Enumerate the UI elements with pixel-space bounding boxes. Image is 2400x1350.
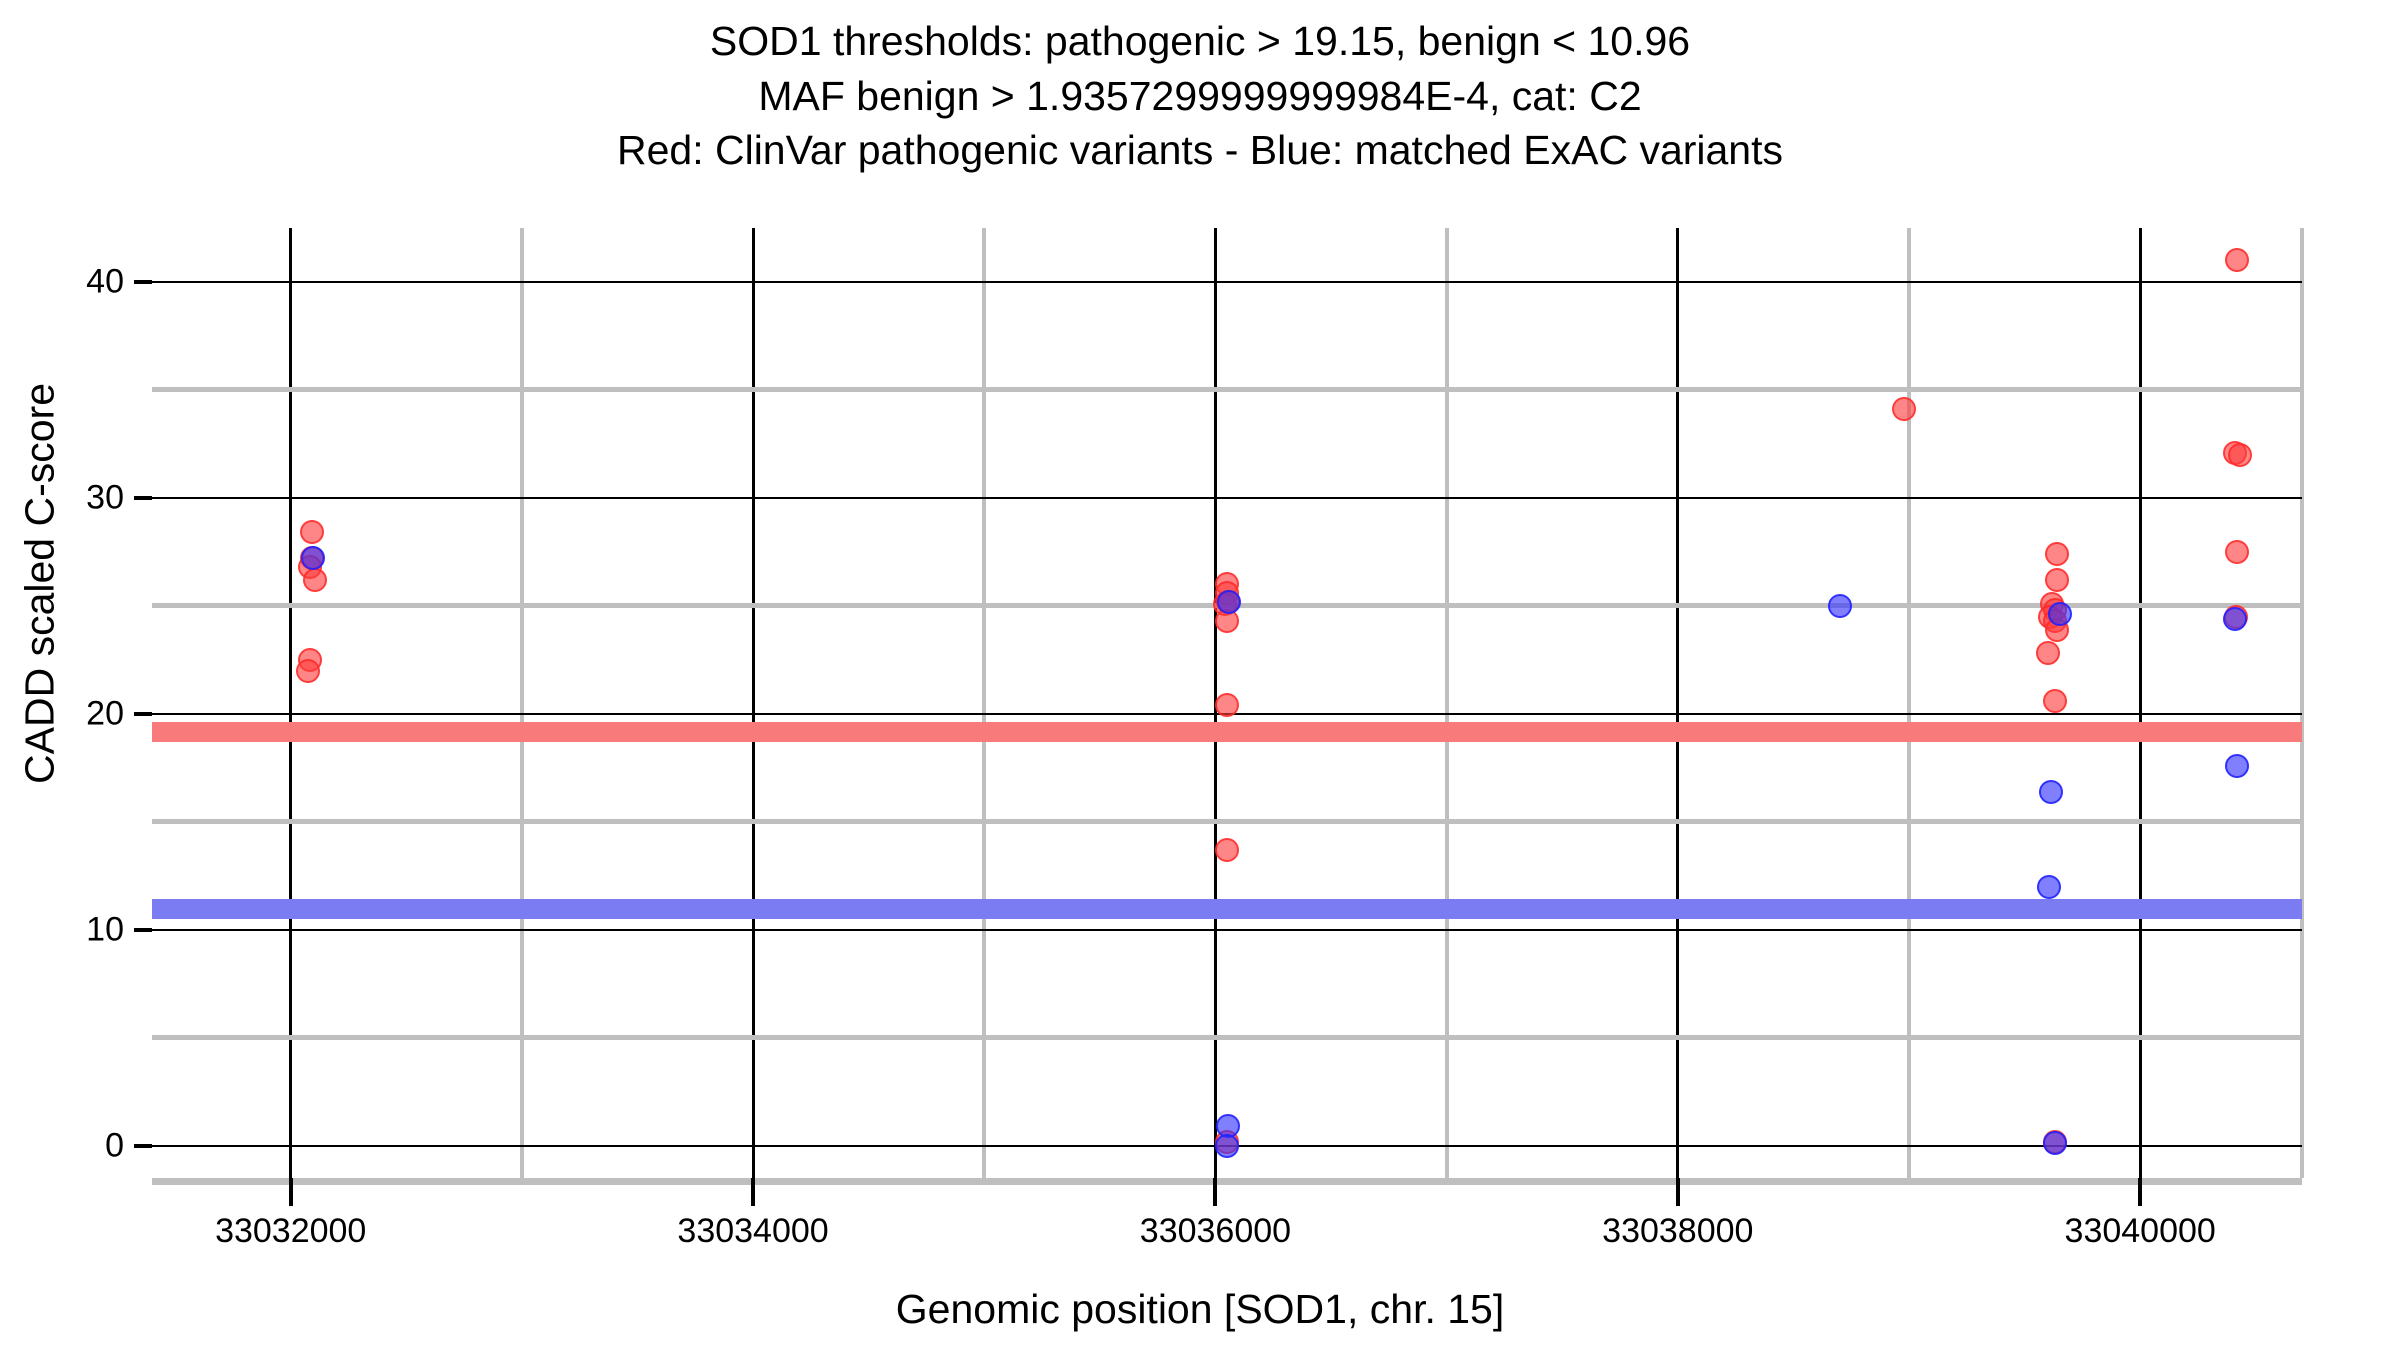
x-tick-mark	[751, 1178, 755, 1206]
data-point-pathogenic[interactable]	[2225, 540, 2249, 564]
x-tick-label: 33032000	[141, 1212, 441, 1251]
x-tick-label: 33036000	[1065, 1212, 1365, 1251]
data-point-exac[interactable]	[2048, 602, 2072, 626]
threshold-line-pathogenic	[152, 722, 2302, 742]
x-tick-mark	[289, 1178, 293, 1206]
y-tick-mark	[134, 928, 152, 932]
x-axis-label: Genomic position [SOD1, chr. 15]	[0, 1286, 2400, 1333]
plot-area	[152, 228, 2302, 1178]
title-line-thresholds: SOD1 thresholds: pathogenic > 19.15, ben…	[0, 14, 2400, 69]
gridline-major-horizontal	[152, 281, 2302, 283]
data-point-pathogenic[interactable]	[1215, 693, 1239, 717]
x-tick-mark	[2138, 1178, 2142, 1206]
x-tick-label: 33034000	[603, 1212, 903, 1251]
data-point-exac[interactable]	[1828, 594, 1852, 618]
x-axis-ticks: 3303200033034000330360003303800033040000	[152, 1178, 2302, 1298]
chart-title: SOD1 thresholds: pathogenic > 19.15, ben…	[0, 14, 2400, 178]
chart-root: SOD1 thresholds: pathogenic > 19.15, ben…	[0, 0, 2400, 1350]
data-point-exac[interactable]	[1217, 590, 1241, 614]
data-point-pathogenic[interactable]	[303, 568, 327, 592]
title-line-maf: MAF benign > 1.9357299999999984E-4, cat:…	[0, 69, 2400, 124]
y-tick-label: 0	[4, 1126, 124, 1165]
gridline-minor-horizontal	[152, 387, 2302, 392]
data-point-pathogenic[interactable]	[1892, 397, 1916, 421]
x-tick-mark	[1213, 1178, 1217, 1206]
data-point-exac[interactable]	[2223, 607, 2247, 631]
y-tick-mark	[134, 496, 152, 500]
y-axis-label: CADD scaled C-score	[17, 184, 64, 984]
y-tick-mark	[134, 1144, 152, 1148]
x-tick-label: 33038000	[1528, 1212, 1828, 1251]
title-line-legend: Red: ClinVar pathogenic variants - Blue:…	[0, 123, 2400, 178]
data-point-pathogenic[interactable]	[2228, 443, 2252, 467]
data-point-exac[interactable]	[301, 546, 325, 570]
threshold-line-benign	[152, 899, 2302, 919]
data-point-pathogenic[interactable]	[2036, 641, 2060, 665]
data-point-exac[interactable]	[2037, 875, 2061, 899]
data-point-pathogenic[interactable]	[1215, 838, 1239, 862]
data-point-exac[interactable]	[1215, 1134, 1239, 1158]
gridline-minor-horizontal	[152, 819, 2302, 824]
gridline-major-horizontal	[152, 929, 2302, 931]
y-tick-mark	[134, 712, 152, 716]
data-point-pathogenic[interactable]	[296, 659, 320, 683]
data-point-exac[interactable]	[2225, 754, 2249, 778]
data-point-exac[interactable]	[2043, 1131, 2067, 1155]
data-point-pathogenic[interactable]	[300, 520, 324, 544]
gridline-major-horizontal	[152, 497, 2302, 499]
x-tick-label: 33040000	[1990, 1212, 2290, 1251]
gridline-minor-horizontal	[152, 1035, 2302, 1040]
data-point-pathogenic[interactable]	[2225, 248, 2249, 272]
data-point-exac[interactable]	[2039, 780, 2063, 804]
data-point-pathogenic[interactable]	[2043, 689, 2067, 713]
y-tick-mark	[134, 280, 152, 284]
x-tick-mark	[1676, 1178, 1680, 1206]
data-point-pathogenic[interactable]	[2045, 542, 2069, 566]
data-point-pathogenic[interactable]	[2045, 568, 2069, 592]
